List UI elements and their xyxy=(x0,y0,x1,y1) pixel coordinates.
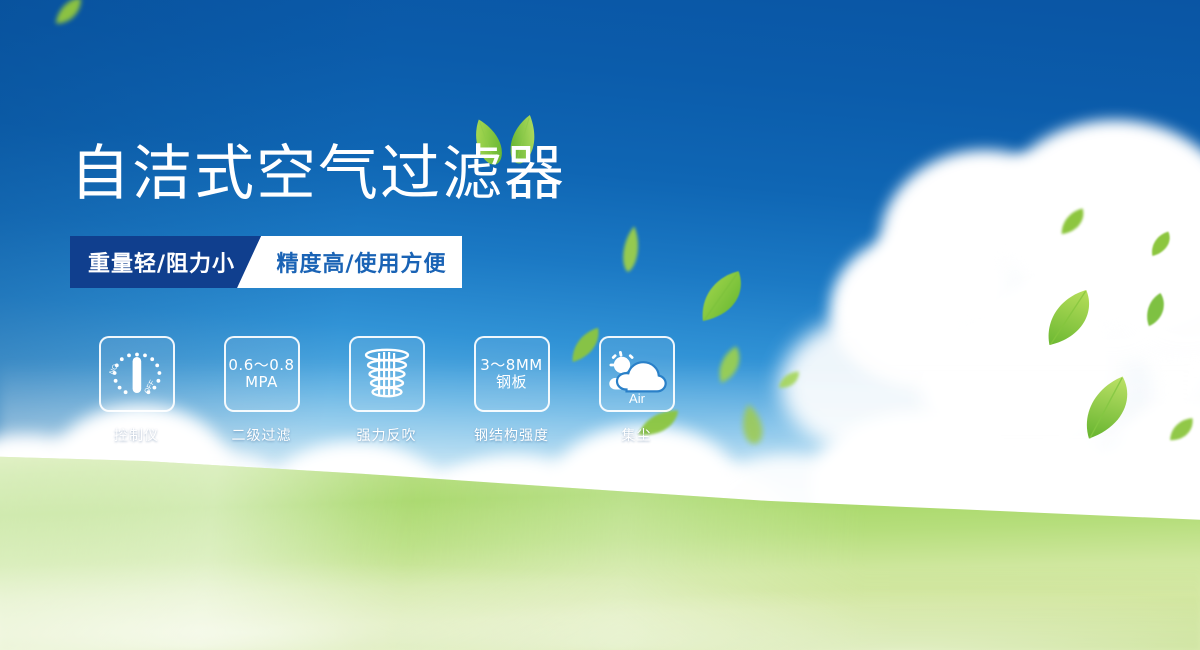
banner-content: 自洁式空气过滤器 重量轻/阻力小 精度高/使用方便 xyxy=(0,0,1200,650)
gauge-dial-icon: NO OFF xyxy=(104,341,170,407)
pressure-line-2: MPA xyxy=(228,374,294,391)
feature-label-steel: 钢结构强度 xyxy=(474,425,549,445)
subtitle-bar: 重量轻/阻力小 精度高/使用方便 xyxy=(70,236,462,288)
pressure-line-1: 0.6～0.8 xyxy=(228,357,294,374)
feature-item-controller[interactable]: NO OFF 控制仪 xyxy=(74,336,199,445)
feature-icon-box xyxy=(349,336,425,412)
feature-item-steel[interactable]: 3～8MM 钢板 钢结构强度 xyxy=(449,336,574,445)
pressure-value-icon: 0.6～0.8 MPA xyxy=(228,357,294,391)
feature-list: NO OFF 控制仪 0.6～0.8 MPA 二级过滤 xyxy=(74,336,699,445)
feature-item-blowback[interactable]: 强力反吹 xyxy=(324,336,449,445)
feature-item-dust[interactable]: Air 集尘 xyxy=(574,336,699,445)
coil-filter-icon xyxy=(356,343,418,405)
page-title: 自洁式空气过滤器 xyxy=(70,144,566,204)
steel-thickness-icon: 3～8MM 钢板 xyxy=(480,357,542,391)
steel-line-2: 钢板 xyxy=(480,374,542,391)
feature-item-filtration[interactable]: 0.6～0.8 MPA 二级过滤 xyxy=(199,336,324,445)
feature-icon-box: Air xyxy=(599,336,675,412)
feature-icon-box: NO OFF xyxy=(99,336,175,412)
cloud-air-label: Air xyxy=(629,391,646,406)
feature-icon-box: 3～8MM 钢板 xyxy=(474,336,550,412)
feature-icon-box: 0.6～0.8 MPA xyxy=(224,336,300,412)
feature-label-dust: 集尘 xyxy=(622,425,652,445)
banner-root: 自洁式空气过滤器 重量轻/阻力小 精度高/使用方便 xyxy=(0,0,1200,650)
steel-line-1: 3～8MM xyxy=(480,357,542,374)
subtitle-right-tag: 精度高/使用方便 xyxy=(235,236,462,288)
feature-label-blowback: 强力反吹 xyxy=(357,425,417,445)
feature-label-filtration: 二级过滤 xyxy=(232,425,292,445)
subtitle-left-tag: 重量轻/阻力小 xyxy=(70,236,261,288)
cloud-air-icon: Air xyxy=(602,341,672,407)
feature-label-controller: 控制仪 xyxy=(114,425,159,445)
